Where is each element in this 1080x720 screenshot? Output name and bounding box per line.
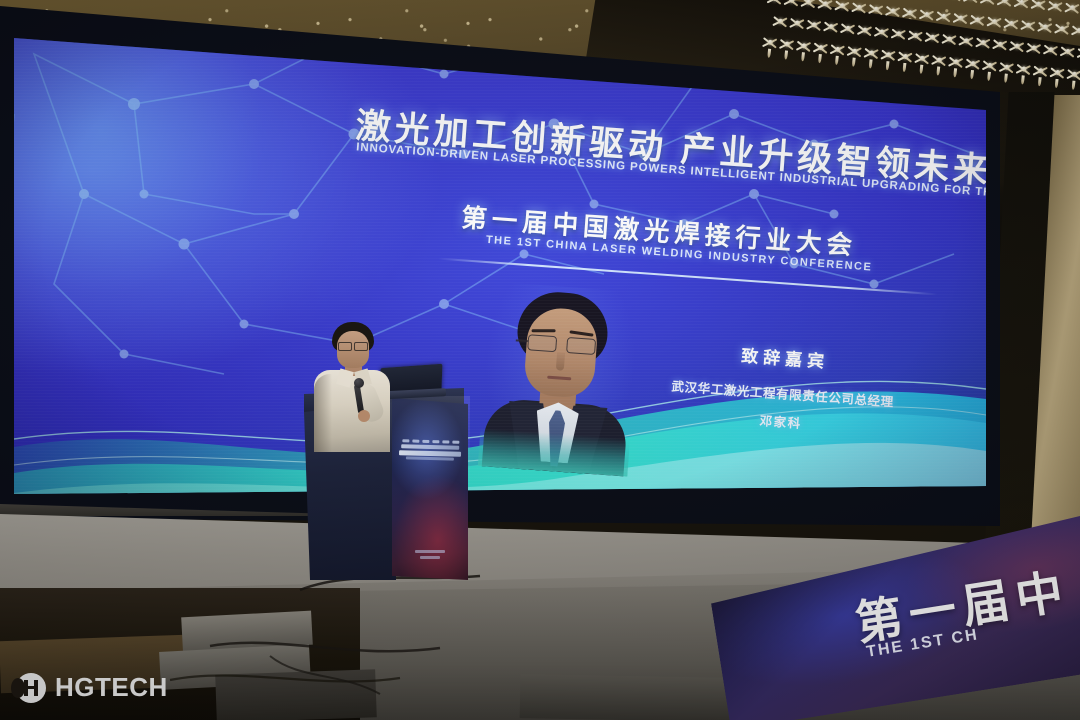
speaker-person xyxy=(306,322,416,452)
stage-cables xyxy=(150,560,670,720)
hgtech-brand-text: HGTECH xyxy=(55,672,168,703)
screen-vignette xyxy=(14,24,986,511)
hgtech-logo-icon xyxy=(16,673,46,703)
conference-stage-photo: 激光加工创新驱动 产业升级智领未来 INNOVATION-DRIVEN LASE… xyxy=(0,0,1080,720)
led-screen: 激光加工创新驱动 产业升级智领未来 INNOVATION-DRIVEN LASE… xyxy=(14,24,986,511)
hgtech-watermark: HGTECH xyxy=(16,672,168,703)
speaker-glasses-icon xyxy=(338,342,368,349)
led-screen-frame: 激光加工创新驱动 产业升级智领未来 INNOVATION-DRIVEN LASE… xyxy=(0,6,1000,526)
